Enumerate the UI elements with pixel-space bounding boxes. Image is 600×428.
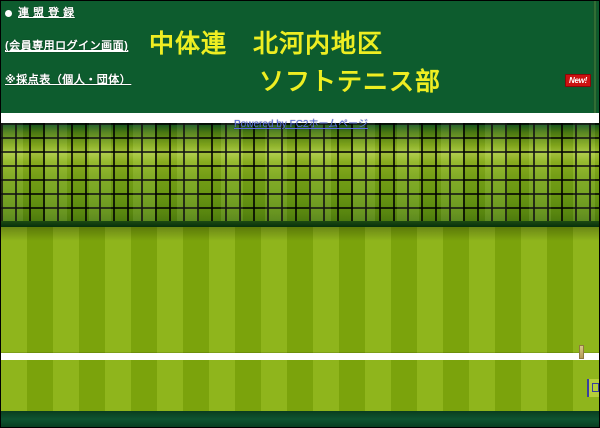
menu-item-federation-registration[interactable]: 連 盟 登 録 — [5, 7, 155, 20]
new-badge[interactable]: New! — [565, 74, 591, 87]
page-title-line-2: ソフトテニス部 — [149, 63, 569, 101]
page-root: 連 盟 登 録 (会員専用ログイン画面) ※採点表（個人・団体） 中体連 北河内… — [0, 0, 600, 428]
header-banner: 連 盟 登 録 (会員専用ログイン画面) ※採点表（個人・団体） 中体連 北河内… — [1, 1, 600, 119]
court-service-line — [1, 353, 600, 360]
menu-item-label: 連 盟 登 録 — [18, 7, 75, 19]
menu-item-label: ※採点表（個人・団体） — [5, 74, 131, 86]
fc2-credit-link[interactable]: Powered by FC2ホームページ — [1, 119, 600, 131]
edge-cutoff-widget — [587, 379, 600, 397]
bullet-dot-icon — [5, 10, 12, 17]
header-menu: 連 盟 登 録 (会員専用ログイン画面) ※採点表（個人・団体） — [5, 5, 155, 87]
menu-item-label: (会員専用ログイン画面) — [5, 40, 128, 52]
net-mesh — [1, 123, 600, 225]
net-band-overlay — [1, 123, 600, 225]
menu-item-member-login[interactable]: (会員専用ログイン画面) — [5, 40, 155, 53]
menu-item-score-sheet[interactable]: ※採点表（個人・団体） — [5, 74, 155, 87]
net-post-decoration — [593, 1, 597, 119]
page-title-line-1: 中体連 北河内地区 — [149, 25, 569, 63]
footer-band — [1, 411, 600, 428]
court-background — [1, 227, 600, 411]
page-title: 中体連 北河内地区 ソフトテニス部 — [149, 25, 569, 101]
court-line-marker — [579, 345, 584, 359]
